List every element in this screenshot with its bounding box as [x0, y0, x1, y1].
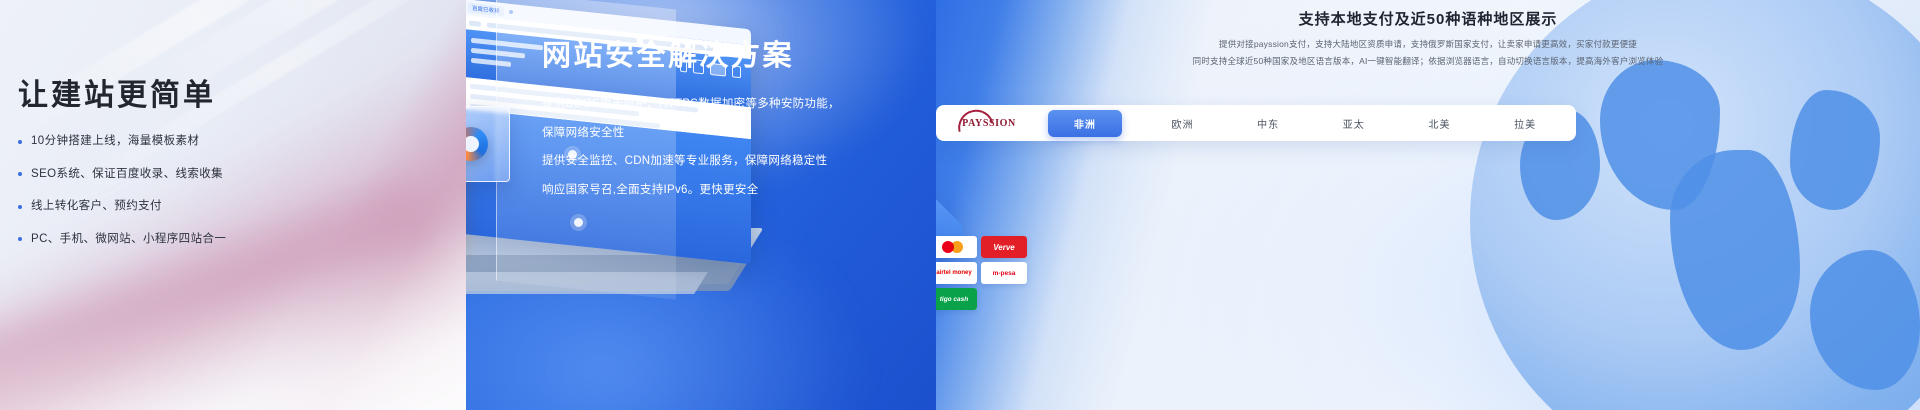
region-tab-list[interactable]: 非洲 欧洲 中东 亚太 北美 拉美	[1032, 110, 1566, 137]
list-item: PC、手机、微网站、小程序四站合一	[18, 234, 348, 246]
panel-local-payment: 支持本地支付及近50种语种地区展示 提供对接payssion支付，支持大陆地区资…	[936, 0, 1920, 410]
left-copy-block: 让建站更简单 10分钟搭建上线，海量模板素材 SEO系统、保证百度收录、线索收集…	[18, 78, 348, 266]
right-copy-block: 支持本地支付及近50种语种地区展示 提供对接payssion支付，支持大陆地区资…	[936, 8, 1920, 74]
airtel-wordmark: airtel money	[936, 270, 971, 277]
panel-website-security: 百度已收录	[466, 0, 936, 410]
region-selector-card: PAYSSION 非洲 欧洲 中东 亚太 北美 拉美	[936, 105, 1576, 141]
tab-africa[interactable]: 非洲	[1048, 110, 1122, 137]
verve-wordmark: Verve	[981, 236, 1027, 258]
tab-europe[interactable]: 欧洲	[1157, 110, 1207, 137]
payment-logo-mpesa: m-pesa	[981, 262, 1027, 284]
payment-logo-tigocash: tigo cash	[936, 288, 977, 310]
description-line: 同时支持全球近50种国家及地区语言版本，AI一键智能翻译；依据浏览器语言，自动切…	[936, 57, 1920, 66]
description-line: 提供安全监控、CDN加速等专业服务，保障网络稳定性	[542, 156, 922, 168]
banner-stage: 让建站更简单 10分钟搭建上线，海量模板素材 SEO系统、保证百度收录、线索收集…	[0, 0, 1920, 410]
bullet-dot-icon	[18, 205, 22, 209]
mpesa-wordmark: m-pesa	[993, 270, 1016, 277]
bullet-dot-icon	[18, 237, 22, 241]
left-feature-list: 10分钟搭建上线，海量模板素材 SEO系统、保证百度收录、线索收集 线上转化客户…	[18, 136, 348, 245]
list-item: 线上转化客户、预约支付	[18, 201, 348, 213]
bullet-dot-icon	[18, 172, 22, 176]
payment-logo-airtel-money: airtel money	[936, 262, 977, 284]
description-line: 提供DDOS攻击防护、HTTPS数据加密等多种安防功能，	[542, 99, 922, 111]
center-copy-block: 网站安全解决方案 提供DDOS攻击防护、HTTPS数据加密等多种安防功能， 保障…	[542, 40, 922, 213]
tab-middle-east[interactable]: 中东	[1243, 110, 1293, 137]
list-item-label: 线上转化客户、预约支付	[31, 201, 162, 213]
payment-logo-verve: Verve	[981, 236, 1027, 258]
description-line: 响应国家号召,全面支持IPv6。更快更安全	[542, 185, 922, 197]
left-headline: 让建站更简单	[18, 78, 348, 114]
center-description: 提供DDOS攻击防护、HTTPS数据加密等多种安防功能， 保障网络安全性 提供安…	[542, 99, 922, 196]
list-item: 10分钟搭建上线，海量模板素材	[18, 136, 348, 148]
pin-dot-icon	[574, 218, 583, 227]
tab-north-america[interactable]: 北美	[1414, 110, 1464, 137]
payment-logo-mastercard	[936, 236, 977, 258]
list-item-label: 10分钟搭建上线，海量模板素材	[31, 136, 199, 148]
center-headline: 网站安全解决方案	[542, 40, 922, 73]
list-item: SEO系统、保证百度收录、线索收集	[18, 169, 348, 181]
list-item-label: PC、手机、微网站、小程序四站合一	[31, 234, 226, 246]
bullet-dot-icon	[18, 140, 22, 144]
ui-chip	[469, 20, 481, 26]
list-item-label: SEO系统、保证百度收录、线索收集	[31, 169, 223, 181]
payssion-logo: PAYSSION	[946, 105, 1032, 141]
description-line: 提供对接payssion支付，支持大陆地区资质申请，支持俄罗斯国家支付，让卖家申…	[936, 40, 1920, 49]
payment-logo-grid: VISA Verve orange airtel money m-pesa MT…	[936, 236, 1031, 310]
right-description: 提供对接payssion支付，支持大陆地区资质申请，支持俄罗斯国家支付，让卖家申…	[936, 40, 1920, 66]
tigocash-wordmark: tigo cash	[936, 288, 977, 310]
mastercard-icon	[936, 236, 977, 258]
tab-asia-pacific[interactable]: 亚太	[1329, 110, 1379, 137]
tab-latin-america[interactable]: 拉美	[1500, 110, 1550, 137]
right-headline: 支持本地支付及近50种语种地区展示	[936, 8, 1920, 29]
description-line: 保障网络安全性	[542, 128, 922, 140]
